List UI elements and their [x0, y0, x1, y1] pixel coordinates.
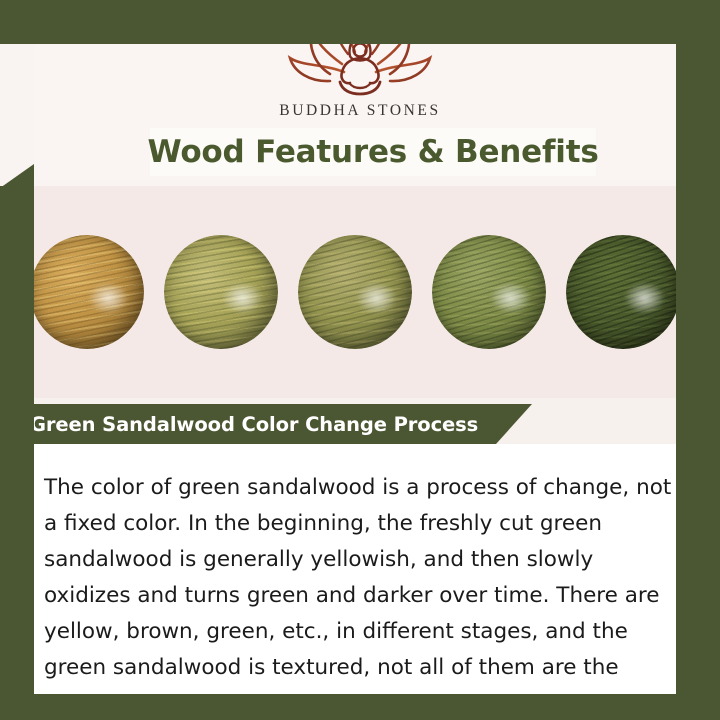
page-title: Wood Features & Benefits [147, 134, 598, 170]
frame-bottom-border [0, 694, 720, 720]
bead-shading [30, 235, 144, 349]
frame-top-border [0, 0, 720, 44]
infographic-poster: BUDDHA STONES Wood Features & Benefits [0, 0, 720, 720]
page-title-strip: Wood Features & Benefits [150, 128, 596, 176]
section-body-text: The color of green sandalwood is a proce… [44, 470, 686, 720]
bead-stage-4 [432, 235, 546, 349]
bead-showcase-panel [34, 186, 676, 398]
bead-stage-5 [566, 235, 680, 349]
section-banner-title: Green Sandalwood Color Change Process [30, 413, 478, 436]
brand-name: BUDDHA STONES [0, 102, 720, 120]
bead-shading [298, 235, 412, 349]
bead-shading [566, 235, 680, 349]
bead-stage-1 [30, 235, 144, 349]
frame-right-border [676, 0, 720, 720]
body-panel: The color of green sandalwood is a proce… [18, 444, 702, 694]
bead-row [34, 186, 676, 398]
bead-shading [164, 235, 278, 349]
bead-shading [432, 235, 546, 349]
bead-stage-2 [164, 235, 278, 349]
frame-left-border [0, 186, 34, 720]
section-banner: Green Sandalwood Color Change Process [18, 404, 532, 444]
bead-stage-3 [298, 235, 412, 349]
